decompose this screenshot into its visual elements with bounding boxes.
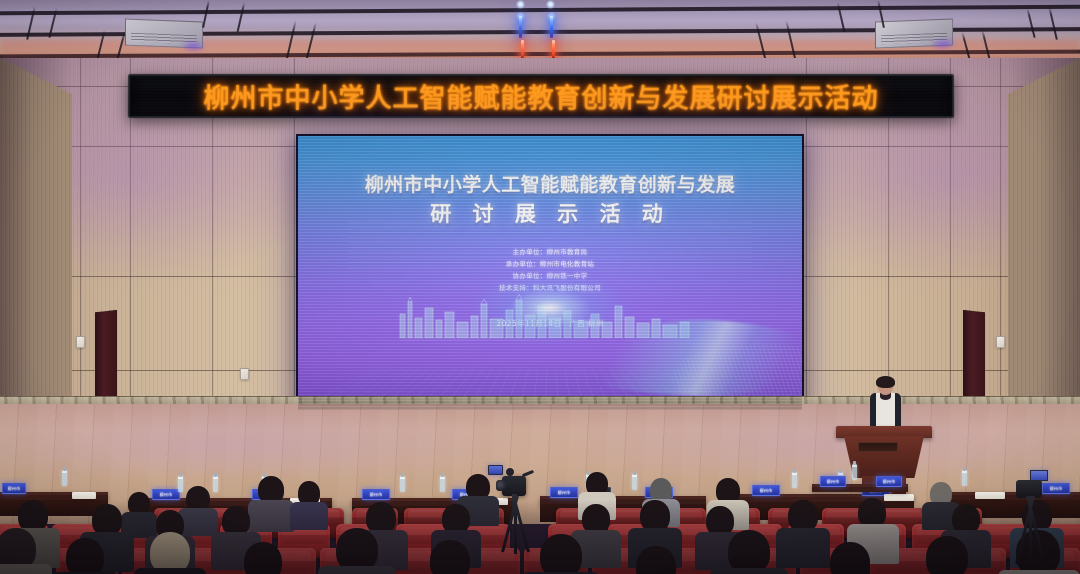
name-placard: 柳州市	[362, 489, 390, 500]
person-head	[430, 540, 470, 574]
water-bottle	[440, 476, 445, 492]
podium-front-panel	[858, 442, 898, 452]
water-bottle	[62, 470, 67, 486]
name-placard: 柳州市	[550, 487, 578, 498]
person-body	[178, 508, 218, 536]
wall-switch-plate[interactable]	[240, 368, 249, 380]
water-bottle	[962, 470, 967, 486]
camera-flip-monitor	[488, 465, 503, 475]
person-head	[926, 536, 968, 574]
hvac-vent-right	[875, 19, 953, 49]
person-head	[540, 534, 582, 574]
stage-light-spark	[516, 0, 525, 9]
person-head	[830, 542, 870, 574]
name-placard: 柳州市	[2, 483, 26, 494]
side-wall-shadow-right	[1008, 58, 1080, 420]
led-banner-text: 柳州市中小学人工智能赋能教育创新与发展研讨展示活动	[203, 78, 878, 115]
vent-light-tint	[180, 40, 206, 53]
camera-microphone	[506, 468, 514, 476]
person-body	[290, 502, 328, 530]
name-placard: 柳州市	[752, 485, 780, 496]
water-bottle	[213, 476, 218, 492]
desk-paper	[975, 492, 1005, 499]
vent-light-tint	[930, 37, 956, 50]
name-placard: 柳州市	[820, 476, 846, 487]
person-head	[66, 538, 104, 574]
organizer-line: 承办单位：柳州市电化教育站	[506, 258, 594, 268]
water-bottle	[632, 474, 637, 490]
person-body	[776, 528, 830, 568]
water-bottle	[400, 476, 405, 492]
water-bottle	[852, 464, 857, 480]
wall-switch-plate[interactable]	[996, 336, 1005, 348]
video-camera-right[interactable]	[1008, 470, 1058, 574]
stage-light-beam-blue	[519, 16, 522, 38]
organizer-line: 主办单位：柳州市教育局	[513, 246, 588, 256]
hvac-vent-left	[125, 19, 203, 49]
person-body	[248, 500, 294, 532]
screen-title-line-1: 柳州市中小学人工智能赋能教育创新与发展	[298, 170, 802, 197]
desk-paper	[884, 494, 914, 501]
wall-panel-seam	[80, 58, 81, 420]
main-led-screen[interactable]: 柳州市中小学人工智能赋能教育创新与发展 研 讨 展 示 活 动 主办单位：柳州市…	[296, 134, 804, 412]
presenter-hair	[876, 376, 895, 388]
led-banner: 柳州市中小学人工智能赋能教育创新与发展研讨展示活动	[128, 74, 954, 118]
camera-lens	[496, 480, 506, 491]
person-body	[318, 566, 396, 574]
screen-title-line-2: 研 讨 展 示 活 动	[298, 198, 802, 228]
name-placard: 柳州市	[876, 476, 902, 487]
water-bottle	[178, 476, 183, 492]
stage-light-spark	[546, 0, 555, 9]
person-head	[244, 542, 282, 574]
water-bottle	[792, 472, 797, 488]
wall-switch-plate[interactable]	[76, 336, 85, 348]
side-wall-shadow-left	[0, 58, 72, 420]
video-camera-center[interactable]	[492, 462, 536, 554]
person-body	[710, 568, 788, 574]
name-placard: 柳州市	[152, 489, 180, 500]
desk-paper	[72, 492, 96, 499]
stage-light-beam-blue	[550, 16, 553, 38]
auditorium-photo: 柳州市中小学人工智能赋能教育创新与发展研讨展示活动 柳州市中小学人工智能赋能教育…	[0, 0, 1080, 574]
person-body	[134, 568, 206, 574]
person-body	[0, 564, 52, 574]
wall-panel-seam	[1000, 58, 1001, 420]
